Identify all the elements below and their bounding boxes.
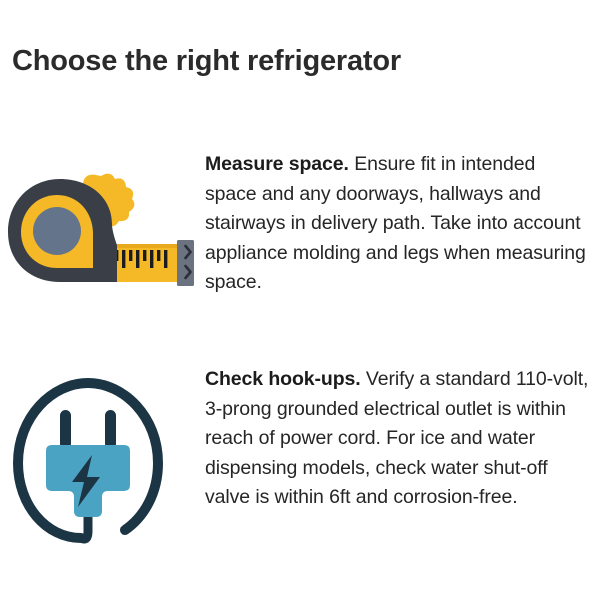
section-check-hook-ups: Check hook-ups. Verify a standard 110-vo… (0, 365, 600, 535)
tape-hub (33, 207, 81, 255)
power-plug-icon (8, 365, 183, 565)
plug-prong-left (60, 410, 71, 449)
check-hook-ups-text-cell: Check hook-ups. Verify a standard 110-vo… (205, 365, 600, 513)
measure-space-lead: Measure space (205, 153, 344, 175)
page-title: Choose the right refrigerator (12, 44, 401, 78)
infographic-page: Choose the right refrigerator (0, 0, 600, 600)
plug-cord (81, 515, 88, 539)
check-hook-ups-icon-cell (0, 365, 205, 535)
check-hook-ups-lead: Check hook-ups. (205, 368, 361, 390)
check-hook-ups-paragraph: Check hook-ups. Verify a standard 110-vo… (205, 365, 592, 513)
measure-space-icon-cell (0, 150, 205, 320)
tape-measure-icon (5, 162, 200, 302)
measure-space-paragraph: Measure space. Ensure fit in intended sp… (205, 150, 592, 298)
tape-end-hook (177, 240, 194, 286)
plug-prongs (60, 410, 116, 449)
measure-space-text-cell: Measure space. Ensure fit in intended sp… (205, 150, 600, 298)
plug-prong-right (105, 410, 116, 449)
section-measure-space: Measure space. Ensure fit in intended sp… (0, 150, 600, 320)
